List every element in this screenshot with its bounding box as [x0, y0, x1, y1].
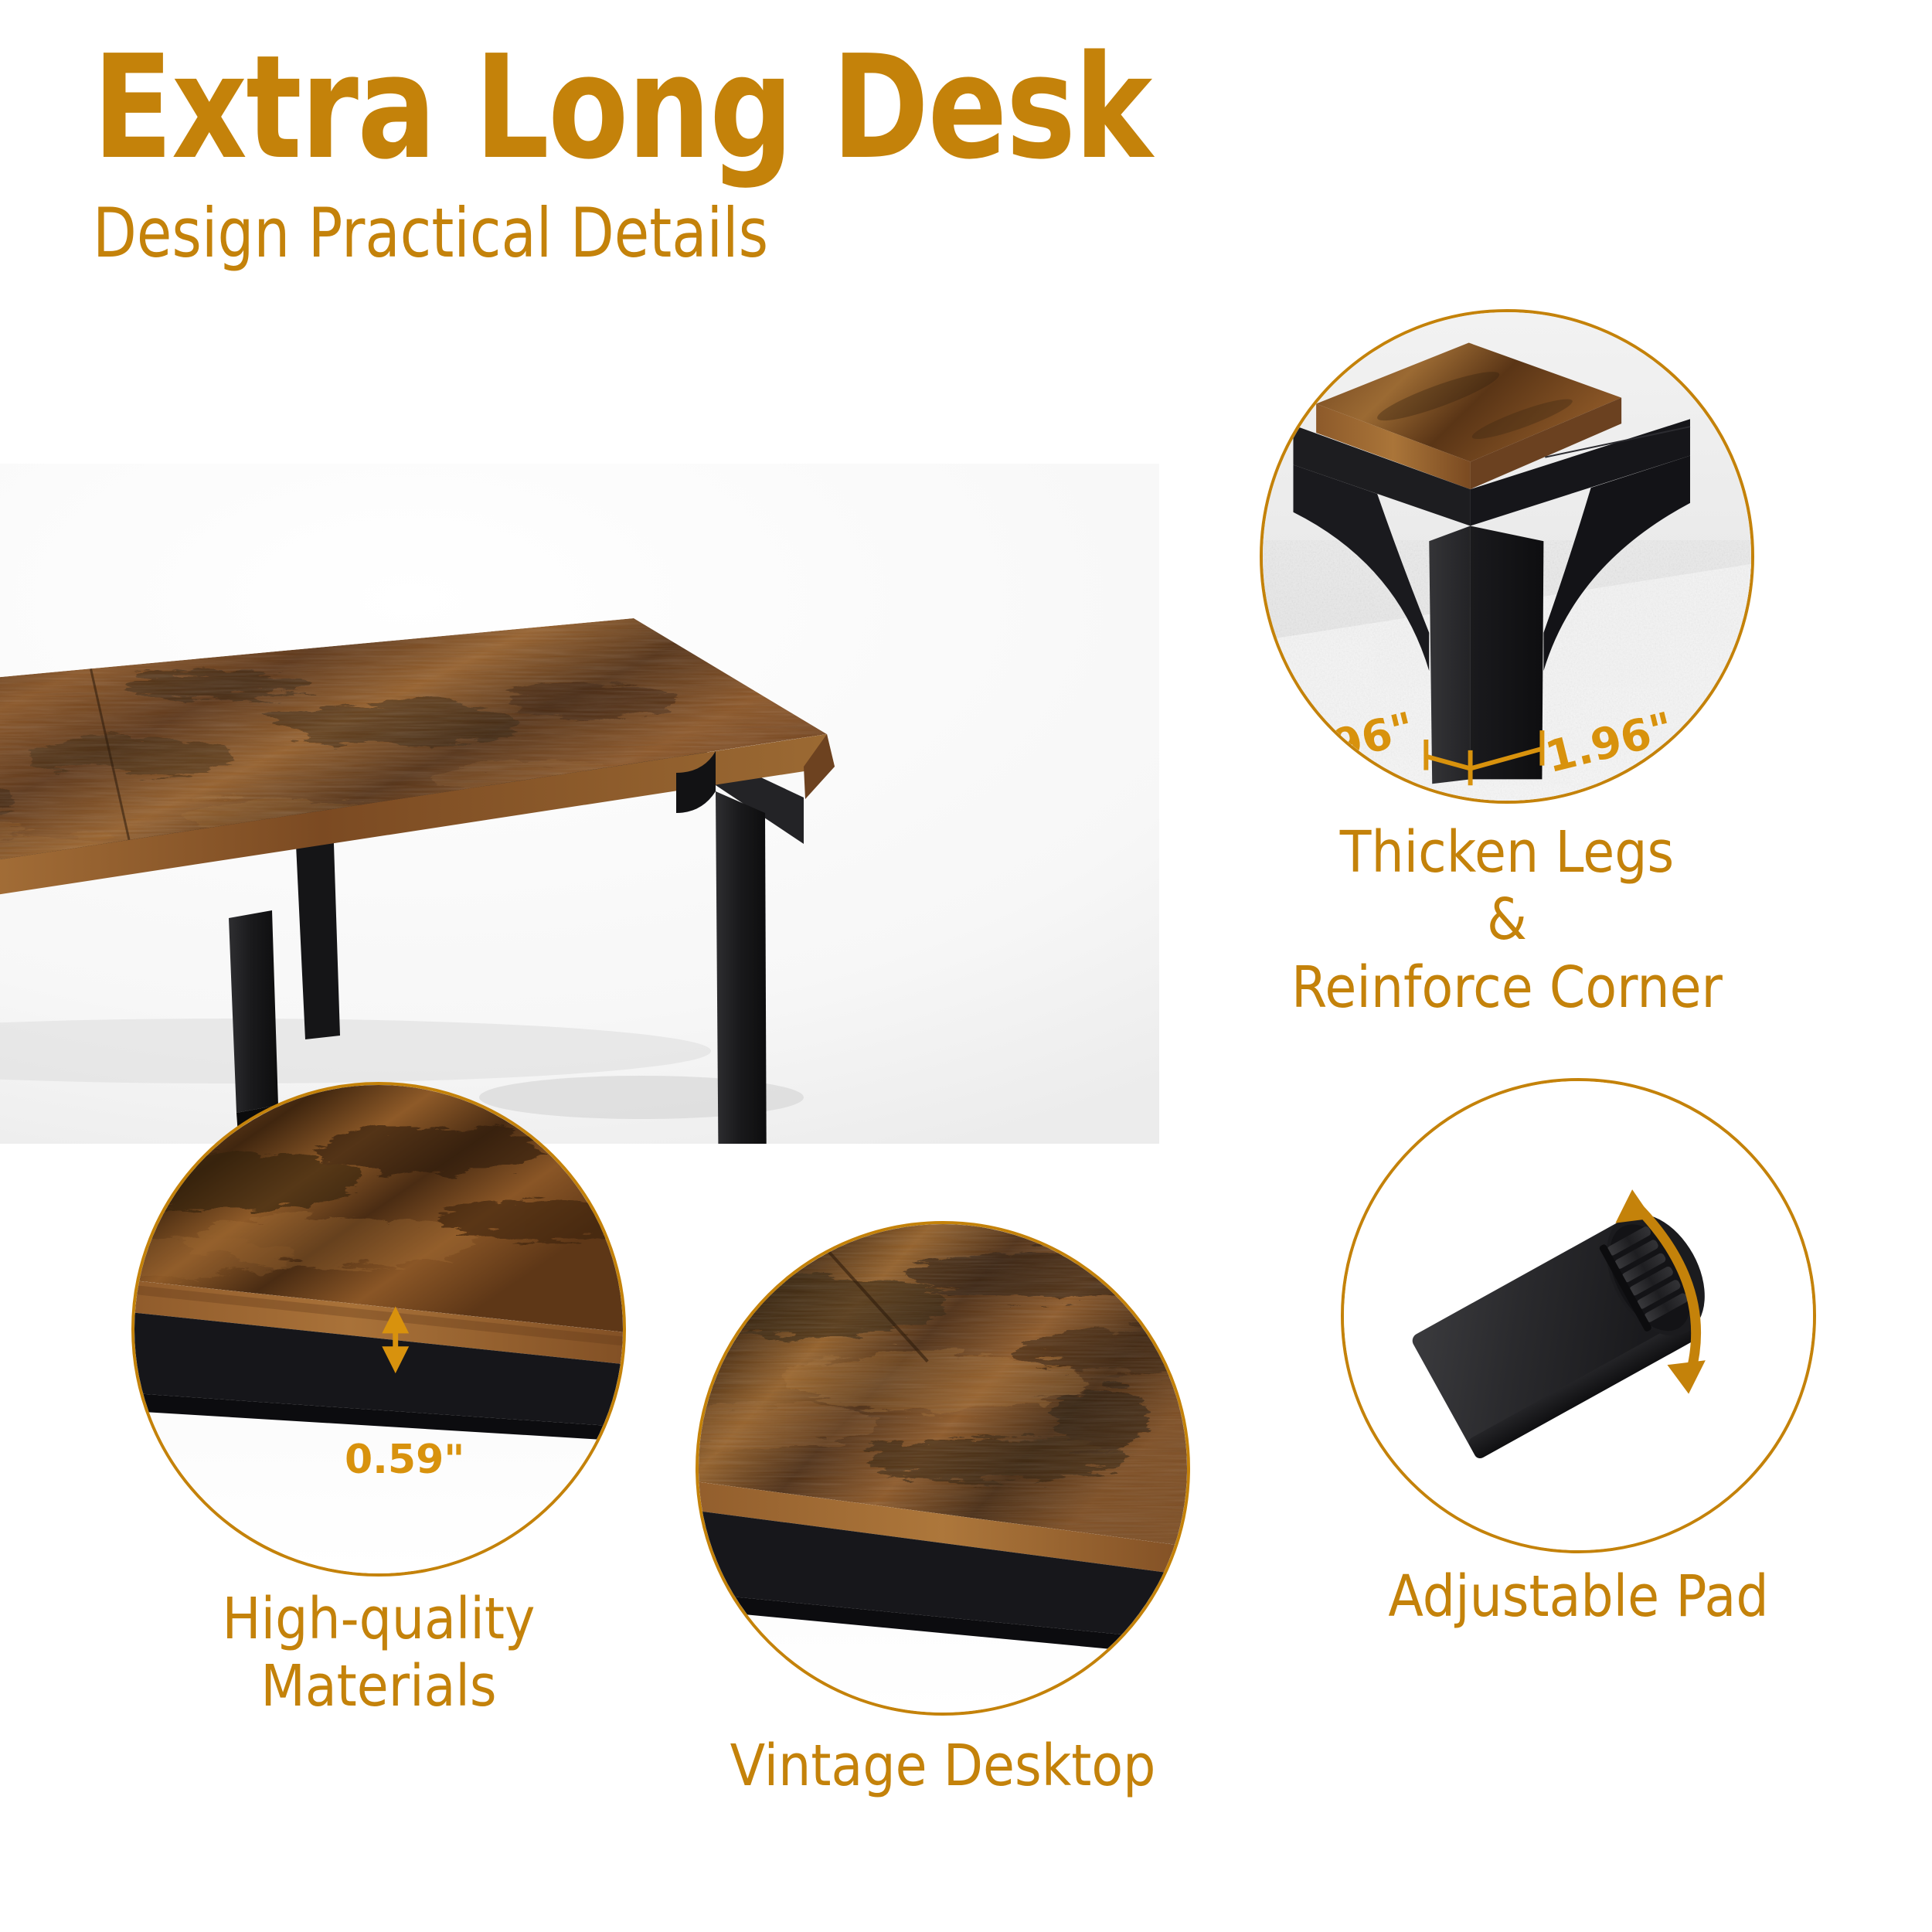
adjustable-pad-image — [1344, 1081, 1813, 1550]
thickness-dimension-label: 0.59" — [345, 1437, 464, 1483]
header: Extra Long Desk Design Practical Details — [93, 31, 1793, 271]
callout-materials-circle: 0.59" — [131, 1082, 626, 1577]
callout-vintage-circle — [696, 1221, 1190, 1716]
page-title: Extra Long Desk — [93, 31, 1487, 185]
callout-vintage-caption: Vintage Desktop — [720, 1733, 1165, 1800]
page-subtitle: Design Practical Details — [93, 196, 1521, 271]
vintage-wood-grain-image — [699, 1224, 1187, 1713]
desk-illustration — [0, 464, 1159, 1144]
callout-pad-circle — [1341, 1078, 1816, 1553]
product-hero-image — [0, 464, 1159, 1144]
desk-leg-front-right — [716, 791, 768, 1144]
callout-thicken-legs-circle: 1.96" 1.96" — [1260, 309, 1754, 804]
callout-pad-caption: Adjustable Pad — [1365, 1563, 1793, 1631]
callout-thicken-legs-caption: Thicken Legs & Reinforce Corner — [1284, 819, 1730, 1022]
desktop-thickness-image — [134, 1085, 623, 1573]
callout-materials-caption: High-quality Materials — [156, 1586, 601, 1721]
